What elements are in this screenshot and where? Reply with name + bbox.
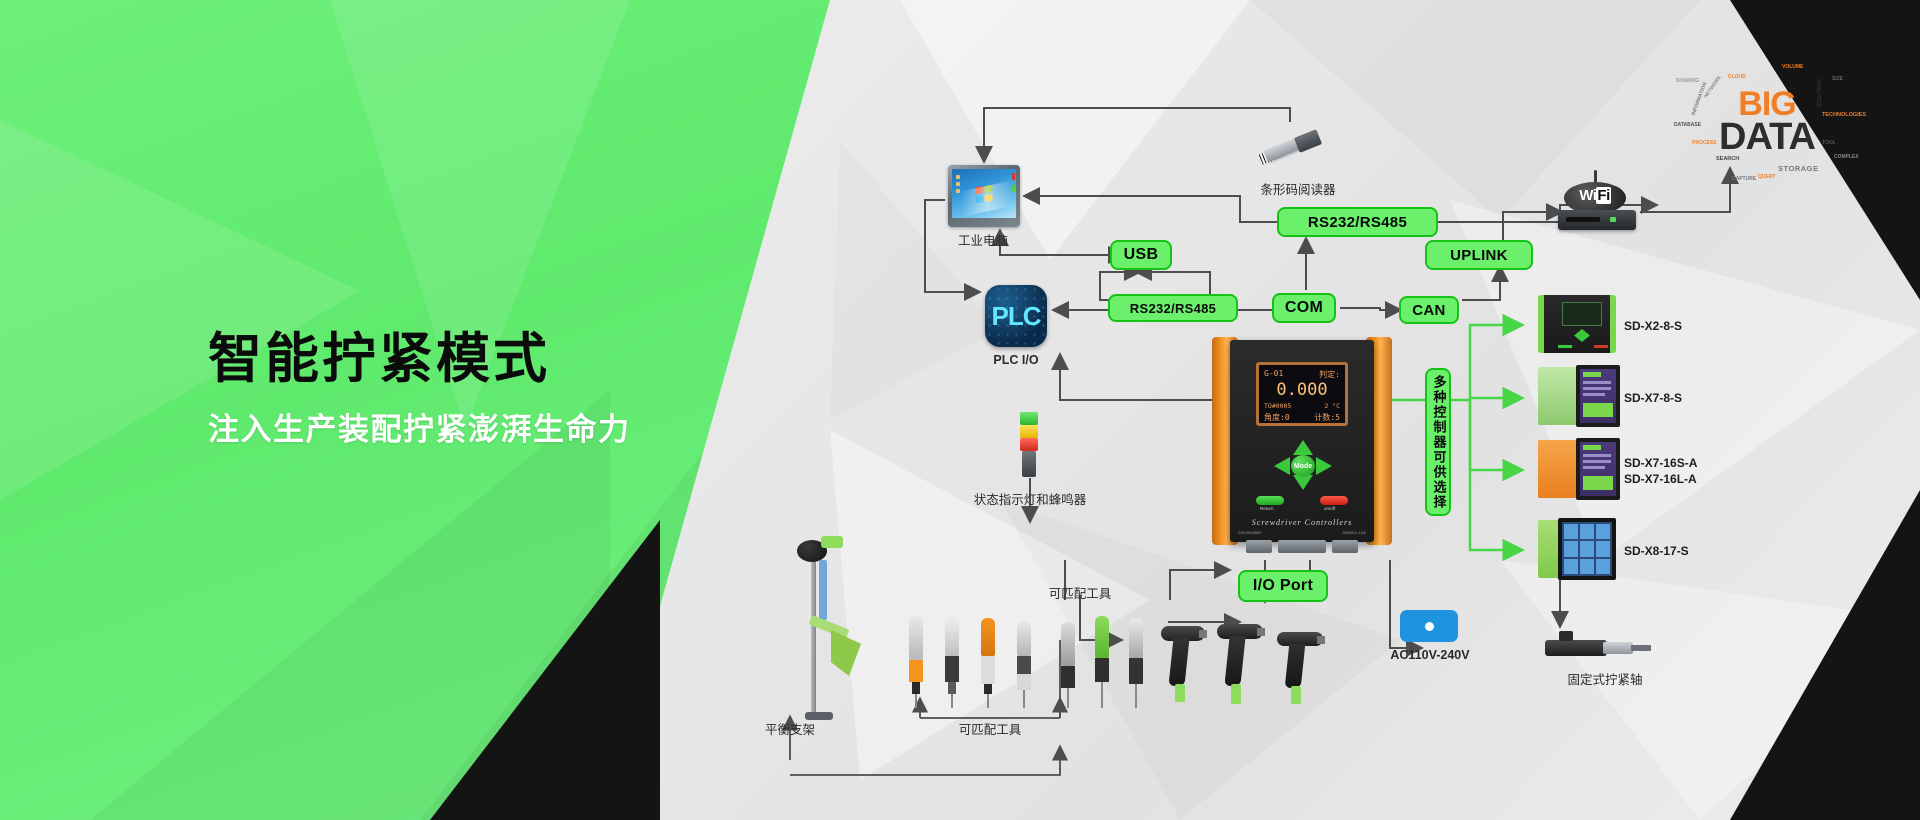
tool-item [1091, 616, 1113, 708]
controller-connector-right [1332, 540, 1358, 553]
controller-sn-right: 0000KG-1N2 [1343, 530, 1366, 535]
industrial-pc [948, 165, 1020, 227]
lcd-angle: 角度:0 [1264, 412, 1290, 423]
keypad-mode-button[interactable]: Mode [1291, 455, 1315, 477]
hero-text: 智能拧紧模式 注入生产装配拧紧澎湃生命力 [208, 330, 848, 449]
model-sd-x2-8-s: SD-X2-8-S [1528, 295, 1828, 357]
barcode-reader [1258, 130, 1328, 168]
model-sd-x7-16: SD-X7-16S-A SD-X7-16L-A [1528, 440, 1828, 502]
pill-can[interactable]: CAN [1399, 296, 1459, 324]
pill-com[interactable]: COM [1272, 293, 1336, 323]
balance-arm [775, 530, 865, 720]
model-label: SD-X2-8-S [1624, 318, 1682, 334]
power-label: AC110V-240V [1370, 648, 1490, 664]
main-screwdriver-controller: G-01 判定: 0.000 TO#0005 2 °C 角度:0 计数:5 M [1212, 340, 1392, 555]
controller-sn-left: S/N:0005800 [1238, 530, 1261, 535]
model-label: SD-X8-17-S [1624, 543, 1689, 559]
big-data-cloud: BIG DATA INFORMATION DATABASE PROCESS NE… [1672, 56, 1862, 188]
pill-uplink[interactable]: UPLINK [1425, 240, 1533, 270]
model-label: SD-X7-8-S [1624, 390, 1682, 406]
return-button-label: Return [1260, 506, 1274, 511]
lcd-tool-id: TO#0005 [1264, 402, 1291, 410]
controller-keypad[interactable]: Mode [1274, 440, 1332, 490]
tool-item-pistol [1161, 624, 1207, 708]
onoff-button-label: on/off [1324, 506, 1335, 511]
controller-lcd: G-01 判定: 0.000 TO#0005 2 °C 角度:0 计数:5 [1256, 362, 1348, 426]
model-sd-x8-17-s: SD-X8-17-S [1528, 520, 1828, 582]
barcode-reader-label: 条形码阅读器 [1218, 182, 1378, 198]
tool-item-pistol [1217, 622, 1265, 708]
tool-item [905, 616, 927, 708]
industrial-pc-label: 工业电脑 [908, 233, 1058, 249]
tool-item [1125, 618, 1147, 708]
plc-io-label: PLC I/O [960, 353, 1072, 369]
plc-module: PLC [985, 285, 1047, 347]
keypad-down-icon[interactable] [1293, 475, 1313, 490]
fixed-spindle-label: 固定式拧紧轴 [1520, 672, 1690, 688]
tool-item-pistol [1277, 628, 1325, 708]
power-input-icon[interactable] [1400, 610, 1458, 642]
page-subtitle: 注入生产装配拧紧澎湃生命力 [208, 404, 848, 449]
tool-row [905, 608, 1325, 708]
controller-choice-label: 多种控制器可供选择 [1425, 368, 1451, 516]
pill-io-port[interactable]: I/O Port [1238, 570, 1328, 602]
tool-item [941, 614, 963, 708]
tool-item [1013, 620, 1035, 708]
balance-arm-label: 平衡支架 [720, 722, 860, 738]
matched-tools-bottom-label: 可匹配工具 [920, 722, 1060, 738]
lcd-program: G-01 [1264, 369, 1283, 380]
tool-item [1057, 622, 1079, 708]
controller-onoff-button[interactable] [1320, 496, 1348, 505]
diagram-stage: 智能拧紧模式 注入生产装配拧紧澎湃生命力 [0, 0, 1920, 820]
controller-connector-center [1278, 540, 1326, 553]
matched-tools-top-label: 可匹配工具 [1010, 586, 1150, 602]
lcd-temp: 2 °C [1324, 402, 1340, 410]
keypad-right-icon[interactable] [1316, 457, 1332, 475]
page-title: 智能拧紧模式 [208, 330, 848, 388]
lcd-count: 计数:5 [1314, 412, 1340, 423]
controller-return-button[interactable] [1256, 496, 1284, 505]
lcd-value: 0.000 [1264, 382, 1340, 399]
bigdata-data-text: DATA [1719, 120, 1815, 155]
pill-rs232-left[interactable]: RS232/RS485 [1108, 294, 1238, 322]
model-sd-x7-8-s: SD-X7-8-S [1528, 367, 1828, 429]
controller-brand-text: Screwdriver Controllers [1212, 518, 1392, 527]
status-light-label: 状态指示灯和蜂鸣器 [940, 492, 1120, 508]
model-label: SD-X7-16S-A SD-X7-16L-A [1624, 455, 1697, 487]
keypad-left-icon[interactable] [1274, 457, 1290, 475]
wifi-label: WiFi [1564, 187, 1626, 204]
wifi-router: WiFi [1558, 180, 1636, 238]
controller-connector-left [1246, 540, 1272, 553]
pill-rs232-top[interactable]: RS232/RS485 [1277, 207, 1438, 237]
tool-item [977, 618, 999, 708]
keypad-up-icon[interactable] [1293, 440, 1313, 455]
lcd-judge-label: 判定: [1319, 369, 1340, 380]
status-light-buzzer [1018, 412, 1040, 482]
pill-usb[interactable]: USB [1110, 240, 1172, 270]
fixed-spindle [1545, 630, 1655, 670]
